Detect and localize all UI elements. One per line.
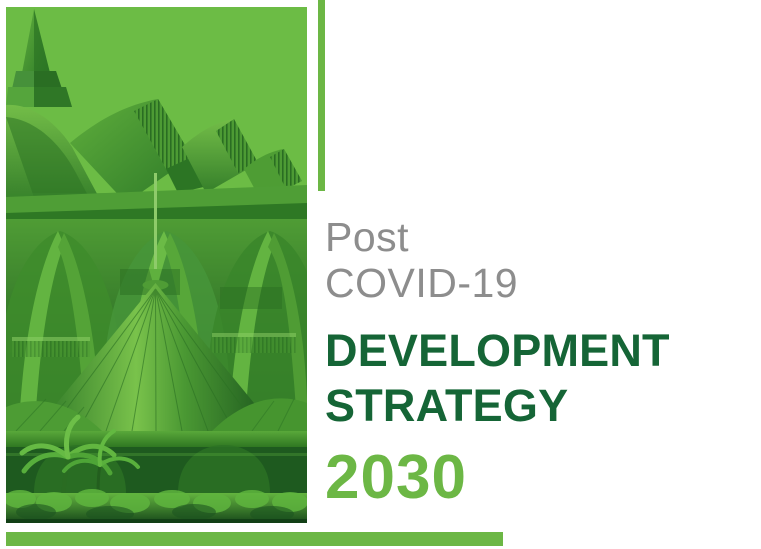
title-year: 2030 bbox=[325, 447, 745, 509]
title-line-post: Post bbox=[325, 214, 745, 260]
cover-photo bbox=[6, 7, 307, 523]
title-block: Post COVID-19 DEVELOPMENT STRATEGY 2030 bbox=[325, 214, 745, 509]
title-line-development: DEVELOPMENT bbox=[325, 322, 745, 380]
title-line-strategy: STRATEGY bbox=[325, 377, 745, 435]
cover-page: Post COVID-19 DEVELOPMENT STRATEGY 2030 bbox=[0, 0, 761, 549]
title-line-covid19: COVID-19 bbox=[325, 260, 745, 306]
building-illustration bbox=[6, 7, 307, 523]
horizontal-accent-bar bbox=[6, 532, 503, 546]
vertical-accent-bar bbox=[318, 0, 325, 191]
